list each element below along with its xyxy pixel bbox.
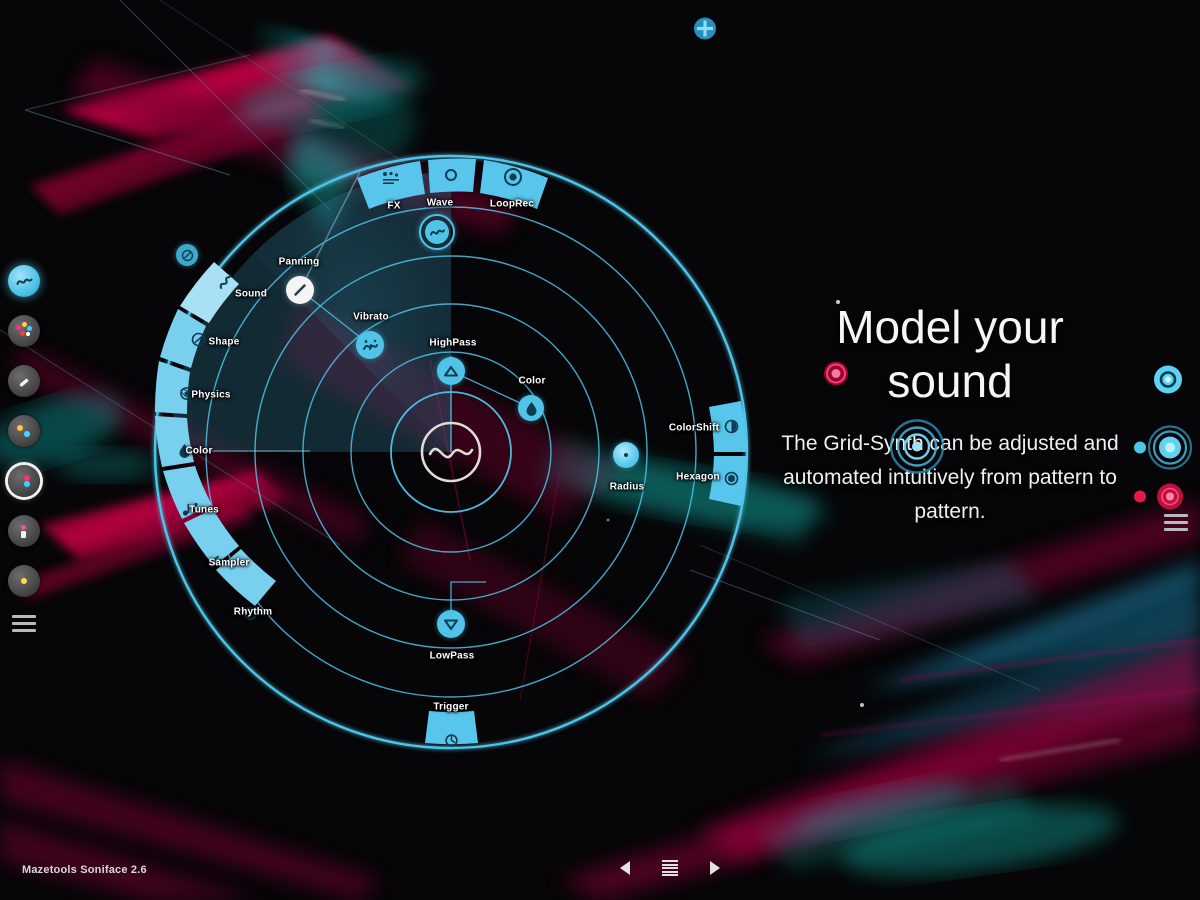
- trigger-icon: [444, 733, 459, 748]
- ripple-icon: [1147, 425, 1193, 471]
- node-color[interactable]: [518, 395, 544, 421]
- orbit-marker-icon: [181, 249, 194, 262]
- lowpass-icon: [443, 617, 459, 632]
- radius-handle-icon: [624, 453, 628, 457]
- sidebar-layer-shape[interactable]: [8, 365, 40, 397]
- left-layer-rail[interactable]: [8, 265, 48, 632]
- rhythm-icon: [243, 606, 258, 621]
- wave-node-icon: [430, 226, 445, 239]
- looprec-icon: [503, 167, 523, 187]
- contrast-icon: [16, 473, 32, 489]
- vibrato-icon: [362, 337, 379, 354]
- arc-icon-wave-segment[interactable]: [442, 166, 460, 184]
- color-icon: [178, 443, 191, 458]
- add-icon: [692, 16, 718, 42]
- brush-icon: [15, 372, 33, 390]
- arc-icon-shape[interactable]: [190, 331, 206, 347]
- arc-icon-trigger[interactable]: [443, 732, 459, 748]
- node-panning[interactable]: [286, 276, 314, 304]
- panning-icon: [292, 282, 308, 298]
- promo-copy: Model your sound The Grid-Synth can be a…: [760, 300, 1140, 529]
- highpass-icon: [443, 364, 459, 379]
- node-radius-handle[interactable]: [613, 442, 639, 468]
- sidebar-layer-colors[interactable]: [8, 315, 40, 347]
- sidebar-layer-physics[interactable]: [8, 415, 40, 447]
- add-button[interactable]: [692, 16, 718, 47]
- page-title: Model your sound: [760, 300, 1140, 409]
- pulse-icon: [17, 574, 31, 588]
- arc-icon-sampler[interactable]: [205, 552, 223, 570]
- magenta-pin-icon: [821, 359, 851, 389]
- ripple-icon: [1155, 482, 1185, 512]
- sidebar-layer-sound[interactable]: [8, 265, 40, 297]
- note-icon: [16, 523, 32, 539]
- blue-ripple-marker[interactable]: [888, 418, 946, 481]
- physics-icon: [179, 386, 194, 401]
- page-title-line2: sound: [887, 355, 1012, 407]
- wave-icon: [16, 274, 33, 289]
- node-wave[interactable]: [419, 214, 455, 250]
- arc-icon-looprec[interactable]: [502, 166, 524, 188]
- right-control-rail[interactable]: [1146, 362, 1192, 542]
- arc-icon-colorshift[interactable]: [723, 418, 739, 434]
- target-icon: [1151, 363, 1185, 397]
- sidebar-layer-color[interactable]: [8, 465, 40, 497]
- rail-magenta-button[interactable]: [1155, 482, 1185, 517]
- blue-ripple-icon: [888, 418, 946, 476]
- next-pattern-icon[interactable]: [710, 861, 720, 875]
- fx-icon: [382, 171, 400, 185]
- rail-ripple-button[interactable]: [1147, 425, 1193, 476]
- wave-segment-icon: [443, 167, 459, 183]
- palette-icon: [15, 322, 33, 340]
- arc-icon-sound[interactable]: [216, 272, 234, 290]
- sidebar-layer-tunes[interactable]: [8, 515, 40, 547]
- transport-controls[interactable]: [620, 860, 720, 876]
- prev-pattern-icon[interactable]: [620, 861, 630, 875]
- node-orbit-marker[interactable]: [176, 244, 198, 266]
- right-rail-menu-button[interactable]: [1164, 514, 1188, 531]
- arc-icon-color[interactable]: [177, 442, 191, 458]
- sampler-icon: [206, 553, 223, 570]
- pattern-list-icon[interactable]: [662, 860, 678, 876]
- right-arc-segments: [709, 401, 747, 506]
- node-lowpass[interactable]: [437, 610, 465, 638]
- footer-bar: Mazetools Soniface 2.6: [0, 848, 1200, 900]
- node-highpass[interactable]: [437, 357, 465, 385]
- colorshift-icon: [724, 419, 739, 434]
- page-subtitle: The Grid-Synth can be adjusted and autom…: [760, 427, 1140, 529]
- hamburger-menu-icon: [12, 615, 36, 632]
- app-brand-label: Mazetools Soniface 2.6: [22, 864, 147, 876]
- arc-icon-hexagon[interactable]: [723, 470, 739, 486]
- arc-icon-physics[interactable]: [178, 385, 194, 401]
- rail-target-button[interactable]: [1151, 363, 1185, 402]
- shape-icon: [191, 332, 206, 347]
- arc-icon-tunes[interactable]: [181, 501, 199, 517]
- tunes-icon: [182, 502, 199, 517]
- atom-icon: [15, 422, 33, 440]
- left-rail-menu-button[interactable]: [12, 615, 48, 632]
- hamburger-menu-icon: [1164, 514, 1188, 531]
- arc-icon-fx[interactable]: [381, 168, 401, 188]
- magenta-pin-marker[interactable]: [821, 359, 851, 394]
- sidebar-layer-rhythm[interactable]: [8, 565, 40, 597]
- page-title-line1: Model your: [836, 301, 1064, 353]
- arc-icon-rhythm[interactable]: [242, 605, 258, 621]
- hexagon-icon: [724, 471, 739, 486]
- node-vibrato[interactable]: [356, 331, 384, 359]
- color-node-icon: [525, 401, 538, 416]
